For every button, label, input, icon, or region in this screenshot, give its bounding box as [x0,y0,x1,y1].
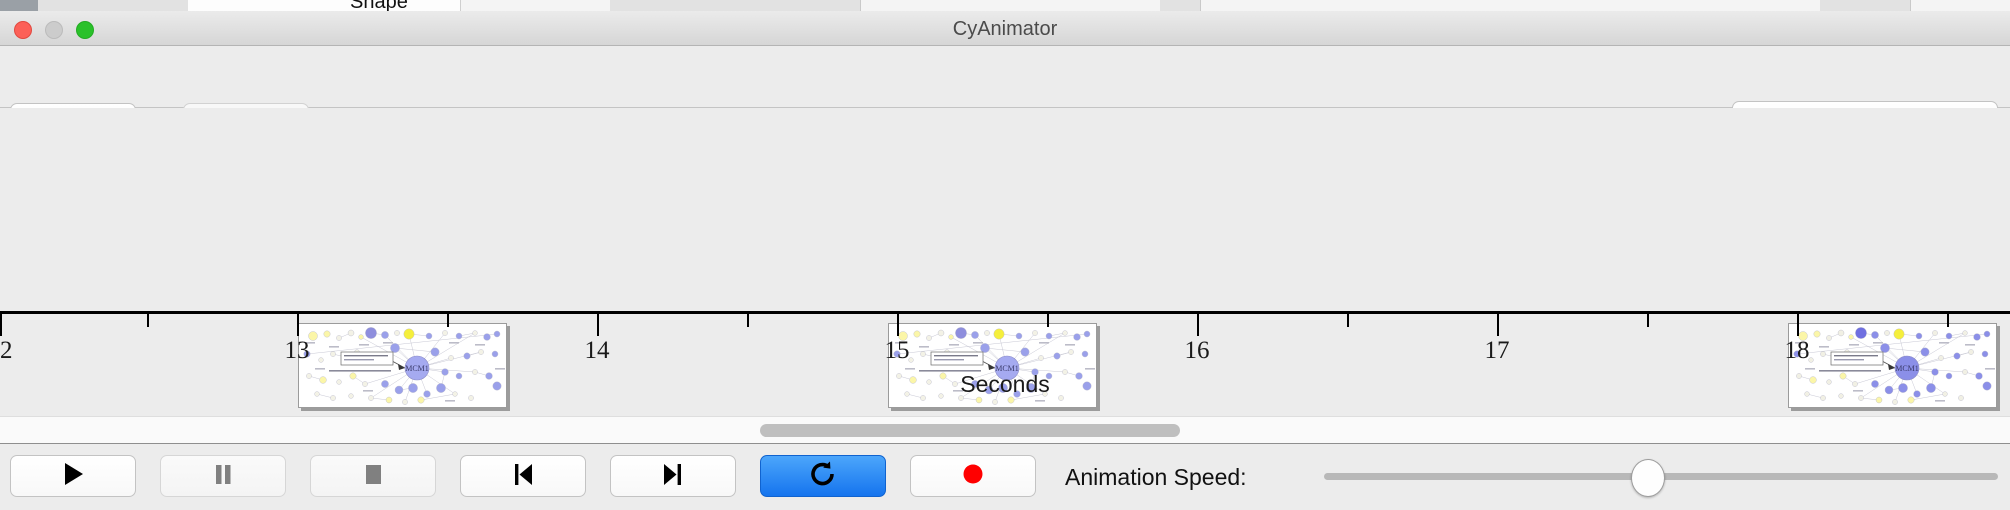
record-button[interactable] [910,455,1036,497]
timeline-ruler: 12131415161718 Seconds [0,311,2010,416]
background-window-label: Shape [350,0,408,11]
stop-button[interactable] [310,455,436,497]
ruler-tick-major [1197,314,1199,336]
ruler-tick-major [0,314,2,336]
ruler-tick-major [1797,314,1799,336]
stop-icon [358,459,388,494]
ruler-tick-label: 13 [285,337,310,365]
skip-back-icon [508,459,538,494]
animation-speed-label: Animation Speed: [1065,464,1247,491]
scrollbar-thumb[interactable] [760,424,1180,437]
ruler-tick-label: 14 [585,337,610,365]
toolbar: Clear All Frames [0,46,2010,108]
ruler-axis-title: Seconds [0,371,2010,398]
skip-end-button[interactable] [610,455,736,497]
loop-icon [808,459,838,494]
ruler-tick-minor [747,314,749,327]
play-icon [58,459,88,494]
pause-button[interactable] [160,455,286,497]
timeline-scrollbar[interactable] [0,416,2010,444]
ruler-tick-label: 18 [1785,337,1810,365]
record-icon [958,459,988,494]
ruler-tick-label: 17 [1485,337,1510,365]
ruler-tick-minor [1047,314,1049,327]
ruler-tick-minor [147,314,149,327]
ruler-tick-major [897,314,899,336]
background-window-strip: Shape [0,0,2010,11]
ruler-tick-major [597,314,599,336]
skip-start-button[interactable] [460,455,586,497]
play-button[interactable] [10,455,136,497]
ruler-tick-minor [1347,314,1349,327]
ruler-tick-minor [1647,314,1649,327]
ruler-tick-label: 12 [0,337,13,365]
title-bar: CyAnimator [0,11,2010,46]
window-title: CyAnimator [0,18,2010,41]
slider-thumb[interactable] [1631,459,1665,497]
pause-icon [208,459,238,494]
keyframe-strip: MCM1MCM1MCM1 [0,108,2010,311]
ruler-tick-label: 16 [1185,337,1210,365]
cyanimator-window: Shape CyAnimator Clear All Frames MCM1MC… [0,0,2010,510]
ruler-tick-major [297,314,299,336]
ruler-tick-major [1497,314,1499,336]
ruler-tick-label: 15 [885,337,910,365]
ruler-tick-minor [447,314,449,327]
timeline-panel[interactable]: MCM1MCM1MCM1 12131415161718 Seconds [0,108,2010,416]
animation-speed-slider[interactable] [1324,455,1998,497]
loop-button[interactable] [760,455,886,497]
skip-forward-icon [658,459,688,494]
playback-controls: Animation Speed: [0,444,2010,510]
ruler-baseline [0,311,2010,314]
ruler-tick-minor [1947,314,1949,327]
